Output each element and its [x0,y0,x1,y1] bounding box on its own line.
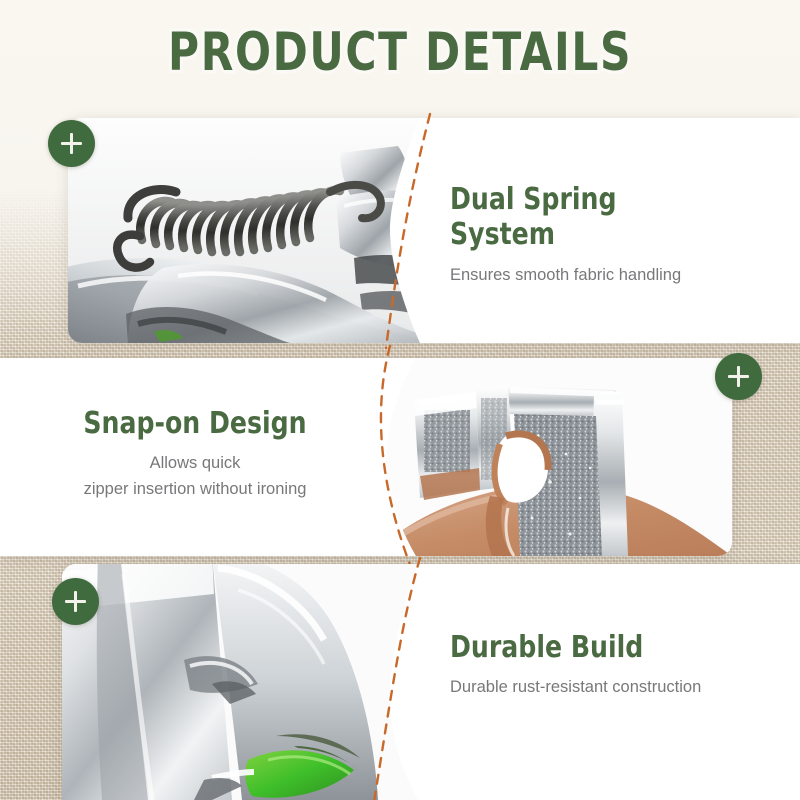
feature-3-text: Durable Build Durable rust-resistant con… [450,630,770,701]
feature-2-photo [380,358,732,556]
plus-icon[interactable] [715,353,762,400]
feature-row-1: Dual Spring System Ensures smooth fabric… [0,0,800,348]
feature-2-text: Snap-on Design Allows quick zipper inser… [30,406,360,503]
feature-3-photo [62,564,418,800]
feature-row-2: Snap-on Design Allows quick zipper inser… [0,348,800,564]
feature-3-subtext: Durable rust-resistant construction [450,675,770,701]
feature-1-photo [68,118,420,343]
feature-2-subtext: Allows quick zipper insertion without ir… [30,451,360,502]
feature-1-heading: Dual Spring System [450,182,719,253]
feature-1-text: Dual Spring System Ensures smooth fabric… [450,182,770,288]
feature-2-heading: Snap-on Design [56,406,333,441]
plus-icon[interactable] [52,578,99,625]
feature-1-subtext: Ensures smooth fabric handling [450,263,770,289]
product-details-infographic: PRODUCT DETAILS [0,0,800,800]
feature-3-heading: Durable Build [450,630,719,665]
plus-icon[interactable] [48,120,95,167]
feature-row-3: Durable Build Durable rust-resistant con… [0,564,800,800]
